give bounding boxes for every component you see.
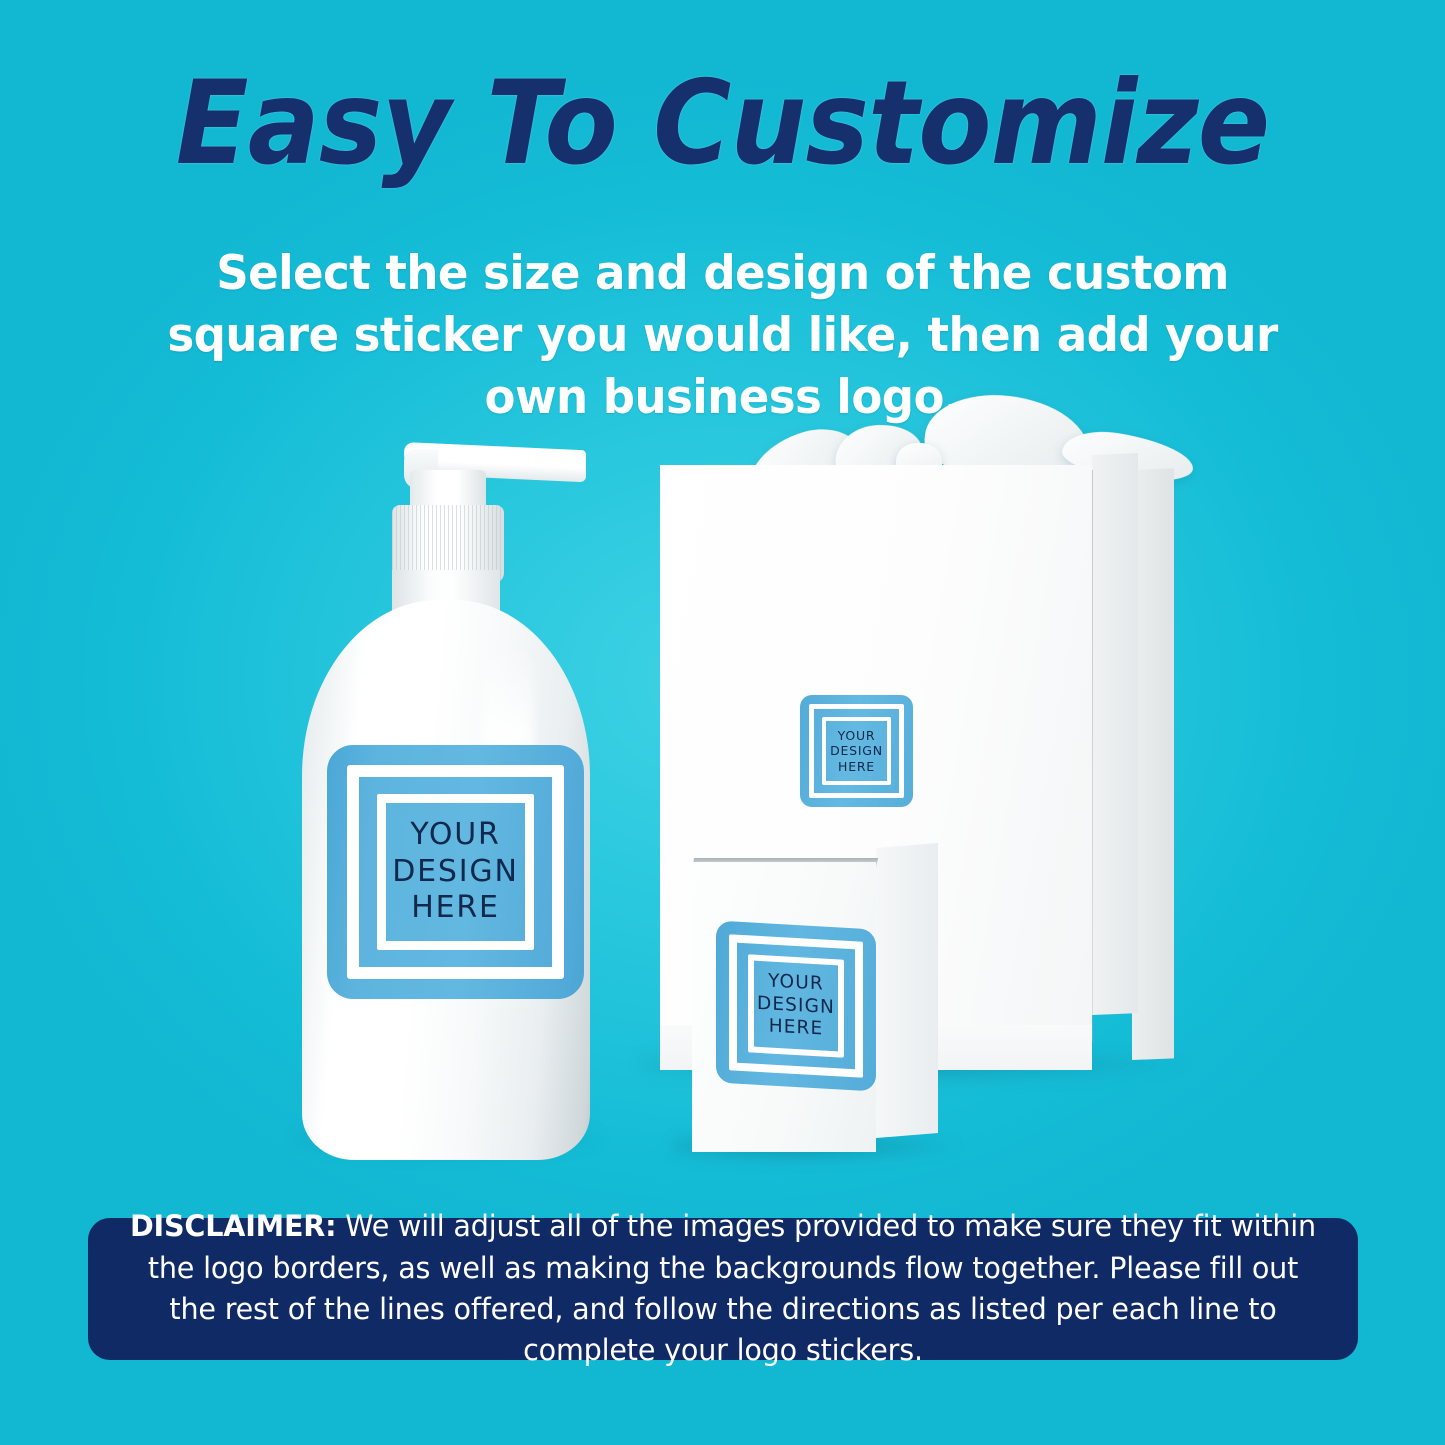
gift-box-lid-side	[1092, 453, 1138, 1015]
sticker-on-carton[interactable]: YOUR DESIGN HERE	[716, 921, 876, 1092]
sticker-label-text: YOUR DESIGN HERE	[392, 817, 518, 927]
sticker-label-text: YOUR DESIGN HERE	[830, 728, 883, 774]
carton-side-panel	[876, 843, 938, 1138]
disclaimer-label: DISCLAIMER:	[130, 1209, 336, 1243]
sticker-label-text: YOUR DESIGN HERE	[757, 970, 835, 1042]
sticker-on-gift-box[interactable]: YOUR DESIGN HERE	[800, 695, 913, 807]
disclaimer-banner: DISCLAIMER: We will adjust all of the im…	[88, 1218, 1358, 1360]
promo-graphic: Easy To Customize Select the size and de…	[0, 0, 1445, 1445]
gift-box-base-side	[1132, 468, 1174, 1060]
disclaimer-text: DISCLAIMER: We will adjust all of the im…	[128, 1206, 1317, 1371]
sticker-on-bottle[interactable]: YOUR DESIGN HERE	[327, 745, 584, 999]
